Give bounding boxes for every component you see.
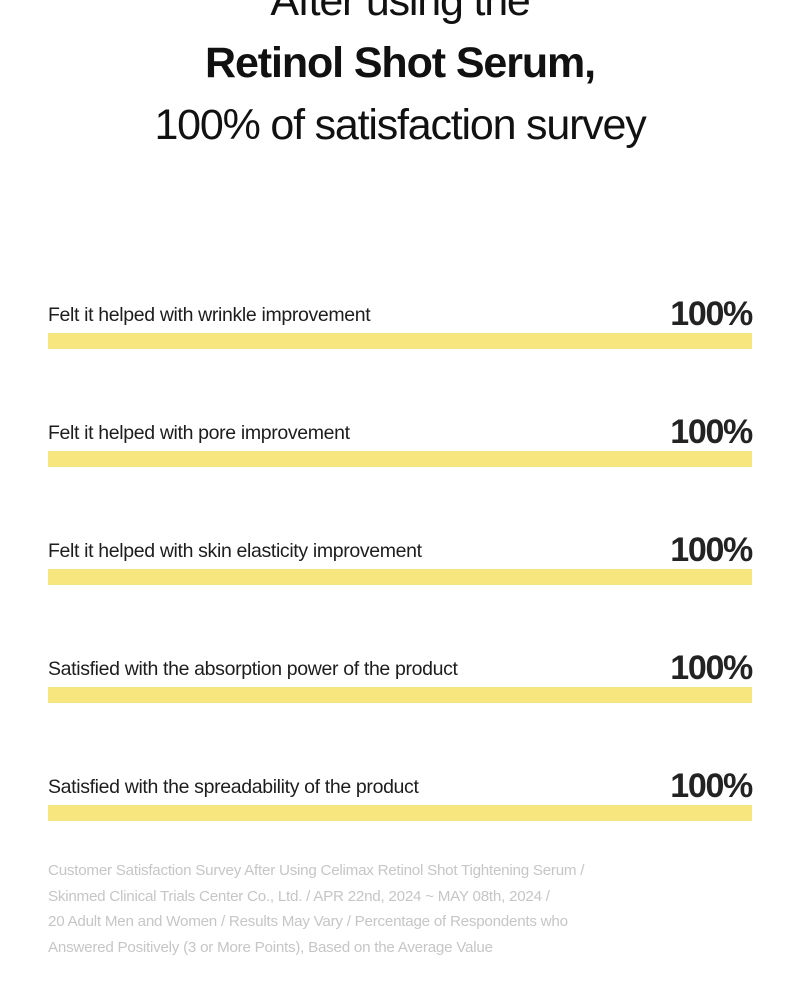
survey-item-label: Felt it helped with skin elasticity impr…	[48, 541, 422, 567]
page-heading: After using the Retinol Shot Serum, 100%…	[0, 0, 800, 156]
survey-row-header: Felt it helped with pore improvement 100…	[48, 390, 752, 451]
survey-results-list: Felt it helped with wrinkle improvement …	[48, 272, 752, 862]
survey-item-label: Felt it helped with pore improvement	[48, 423, 350, 449]
survey-bar-track	[48, 805, 752, 821]
survey-item-value: 100%	[670, 651, 752, 685]
survey-row-header: Satisfied with the absorption power of t…	[48, 626, 752, 687]
survey-row: Felt it helped with skin elasticity impr…	[48, 508, 752, 626]
survey-bar-fill	[48, 451, 752, 467]
survey-row-header: Felt it helped with skin elasticity impr…	[48, 508, 752, 569]
survey-infographic-page: After using the Retinol Shot Serum, 100%…	[0, 0, 800, 988]
survey-bar-track	[48, 333, 752, 349]
survey-bar-track	[48, 569, 752, 585]
survey-bar-fill	[48, 805, 752, 821]
survey-item-label: Felt it helped with wrinkle improvement	[48, 305, 370, 331]
heading-line-3-satisfaction: 100% of satisfaction survey	[0, 94, 800, 156]
footnote-line: 20 Adult Men and Women / Results May Var…	[48, 909, 738, 935]
survey-bar-fill	[48, 687, 752, 703]
survey-item-label: Satisfied with the absorption power of t…	[48, 659, 458, 685]
footnote-line: Skinmed Clinical Trials Center Co., Ltd.…	[48, 884, 738, 910]
heading-line-1: After using the	[0, 0, 800, 32]
survey-item-label: Satisfied with the spreadability of the …	[48, 777, 419, 803]
survey-footnote: Customer Satisfaction Survey After Using…	[48, 858, 738, 960]
survey-row-header: Felt it helped with wrinkle improvement …	[48, 272, 752, 333]
survey-item-value: 100%	[670, 297, 752, 331]
survey-row-header: Satisfied with the spreadability of the …	[48, 744, 752, 805]
survey-bar-track	[48, 451, 752, 467]
survey-row: Satisfied with the spreadability of the …	[48, 744, 752, 862]
footnote-line: Customer Satisfaction Survey After Using…	[48, 858, 738, 884]
footnote-line: Answered Positively (3 or More Points), …	[48, 935, 738, 961]
survey-row: Satisfied with the absorption power of t…	[48, 626, 752, 744]
survey-bar-fill	[48, 333, 752, 349]
survey-item-value: 100%	[670, 415, 752, 449]
survey-item-value: 100%	[670, 533, 752, 567]
survey-bar-fill	[48, 569, 752, 585]
survey-row: Felt it helped with wrinkle improvement …	[48, 272, 752, 390]
heading-line-2-product-name: Retinol Shot Serum,	[0, 32, 800, 94]
survey-item-value: 100%	[670, 769, 752, 803]
survey-bar-track	[48, 687, 752, 703]
survey-row: Felt it helped with pore improvement 100…	[48, 390, 752, 508]
